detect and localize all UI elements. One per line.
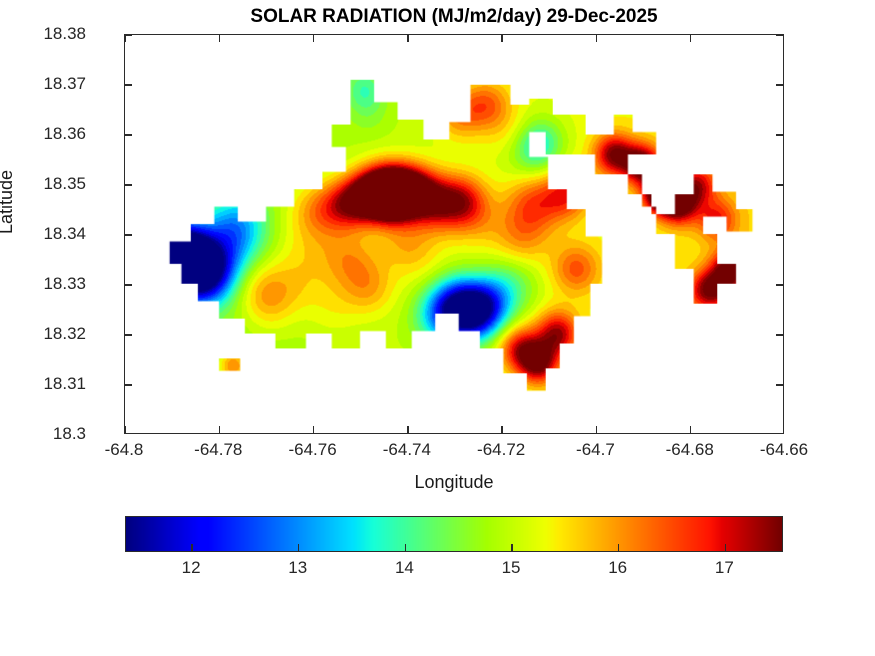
- y-tick-mark: [125, 334, 132, 335]
- x-tick-mark: [501, 426, 502, 433]
- solar-radiation-contour-map: [125, 35, 783, 433]
- colorbar-tick-label: 16: [608, 558, 627, 578]
- x-tick-mark: [124, 426, 125, 433]
- x-tick-label: -64.8: [105, 440, 144, 460]
- y-tick-mark: [125, 34, 132, 35]
- y-tick-label: 18.35: [43, 174, 86, 194]
- x-axis-title: Longitude: [124, 472, 784, 493]
- x-tick-mark: [690, 35, 691, 42]
- y-tick-mark: [125, 284, 132, 285]
- x-tick-mark: [596, 35, 597, 42]
- x-tick-label: -64.7: [576, 440, 615, 460]
- y-tick-mark: [125, 84, 132, 85]
- figure-canvas: SOLAR RADIATION (MJ/m2/day) 29-Dec-2025 …: [0, 0, 875, 656]
- x-tick-label: -64.68: [666, 440, 714, 460]
- x-tick-mark: [501, 35, 502, 42]
- y-tick-mark: [776, 134, 783, 135]
- colorbar-tick-label: 13: [288, 558, 307, 578]
- chart-title: SOLAR RADIATION (MJ/m2/day) 29-Dec-2025: [124, 6, 784, 28]
- y-tick-label: 18.31: [43, 374, 86, 394]
- y-tick-mark: [776, 284, 783, 285]
- x-tick-mark: [313, 426, 314, 433]
- x-tick-label: -64.74: [383, 440, 431, 460]
- x-tick-mark: [219, 426, 220, 433]
- y-axis-title: Latitude: [0, 170, 17, 234]
- y-tick-label: 18.32: [43, 324, 86, 344]
- colorbar-tick-mark: [511, 544, 512, 551]
- y-tick-mark: [125, 134, 132, 135]
- y-tick-label: 18.36: [43, 124, 86, 144]
- y-tick-label: 18.3: [53, 424, 86, 444]
- colorbar-tick-mark: [618, 544, 619, 551]
- x-tick-mark: [219, 35, 220, 42]
- x-tick-mark: [690, 426, 691, 433]
- colorbar-gradient: [126, 517, 782, 551]
- contour-plot-axes: [124, 34, 784, 434]
- y-tick-mark: [776, 184, 783, 185]
- colorbar-tick-label: 14: [395, 558, 414, 578]
- colorbar-tick-mark: [725, 544, 726, 551]
- colorbar-tick-label: 15: [502, 558, 521, 578]
- y-tick-mark: [125, 384, 132, 385]
- x-tick-mark: [124, 35, 125, 42]
- x-tick-mark: [407, 426, 408, 433]
- y-tick-label: 18.38: [43, 24, 86, 44]
- colorbar-tick-mark: [298, 544, 299, 551]
- y-tick-mark: [776, 34, 783, 35]
- y-tick-mark: [776, 84, 783, 85]
- x-tick-label: -64.78: [194, 440, 242, 460]
- y-tick-mark: [776, 384, 783, 385]
- colorbar-tick-label: 12: [182, 558, 201, 578]
- x-tick-label: -64.76: [288, 440, 336, 460]
- y-tick-mark: [776, 334, 783, 335]
- x-tick-mark: [313, 35, 314, 42]
- y-tick-mark: [776, 234, 783, 235]
- colorbar-tick-mark: [191, 544, 192, 551]
- y-tick-label: 18.33: [43, 274, 86, 294]
- colorbar: [125, 516, 783, 552]
- y-tick-label: 18.34: [43, 224, 86, 244]
- x-tick-label: -64.66: [760, 440, 808, 460]
- y-tick-mark: [125, 234, 132, 235]
- x-tick-label: -64.72: [477, 440, 525, 460]
- colorbar-tick-label: 17: [715, 558, 734, 578]
- x-tick-mark: [407, 35, 408, 42]
- x-tick-mark: [596, 426, 597, 433]
- y-tick-mark: [125, 184, 132, 185]
- y-tick-label: 18.37: [43, 74, 86, 94]
- colorbar-tick-mark: [405, 544, 406, 551]
